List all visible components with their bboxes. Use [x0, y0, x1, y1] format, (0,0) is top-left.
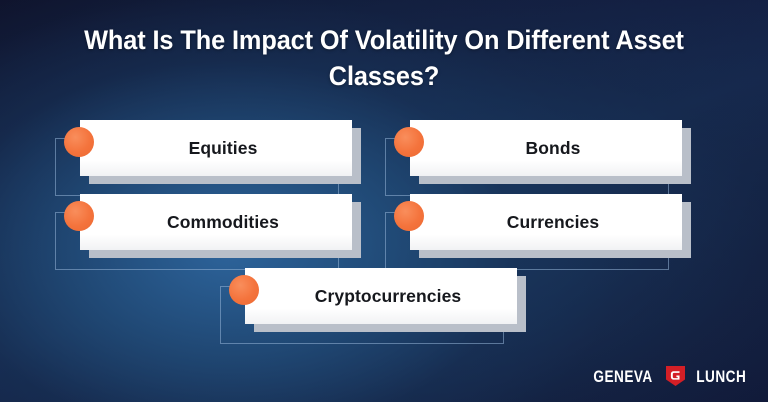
card-face: Bonds [410, 120, 682, 176]
orange-circle-icon [394, 201, 424, 231]
asset-class-card-cryptocurrencies[interactable]: Cryptocurrencies [221, 266, 517, 332]
orange-circle-icon [64, 201, 94, 231]
brand-logo-word-left: GENEVA [594, 368, 653, 385]
card-face: Equities [80, 120, 352, 176]
orange-circle-icon [64, 127, 94, 157]
g-shield-badge-icon [665, 365, 686, 387]
brand-logo[interactable]: GENEVA LUNCH [586, 364, 752, 388]
asset-class-card-commodities[interactable]: Commodities [56, 192, 352, 258]
asset-class-card-grid: Equities Bonds Commodities Currencies [0, 118, 768, 356]
asset-class-card-bonds[interactable]: Bonds [386, 118, 682, 184]
card-label: Currencies [507, 212, 599, 233]
infographic-canvas: What Is The Impact Of Volatility On Diff… [0, 0, 768, 402]
card-face: Cryptocurrencies [245, 268, 517, 324]
orange-circle-icon [229, 275, 259, 305]
card-label: Equities [189, 138, 258, 159]
brand-logo-word-right: LUNCH [696, 368, 746, 385]
asset-class-card-currencies[interactable]: Currencies [386, 192, 682, 258]
page-title-text: What Is The Impact Of Volatility On Diff… [50, 22, 719, 94]
page-title: What Is The Impact Of Volatility On Diff… [0, 22, 768, 94]
orange-circle-icon [394, 127, 424, 157]
card-label: Commodities [167, 212, 279, 233]
card-label: Cryptocurrencies [315, 286, 462, 307]
asset-class-card-equities[interactable]: Equities [56, 118, 352, 184]
card-face: Commodities [80, 194, 352, 250]
card-label: Bonds [526, 138, 581, 159]
card-face: Currencies [410, 194, 682, 250]
